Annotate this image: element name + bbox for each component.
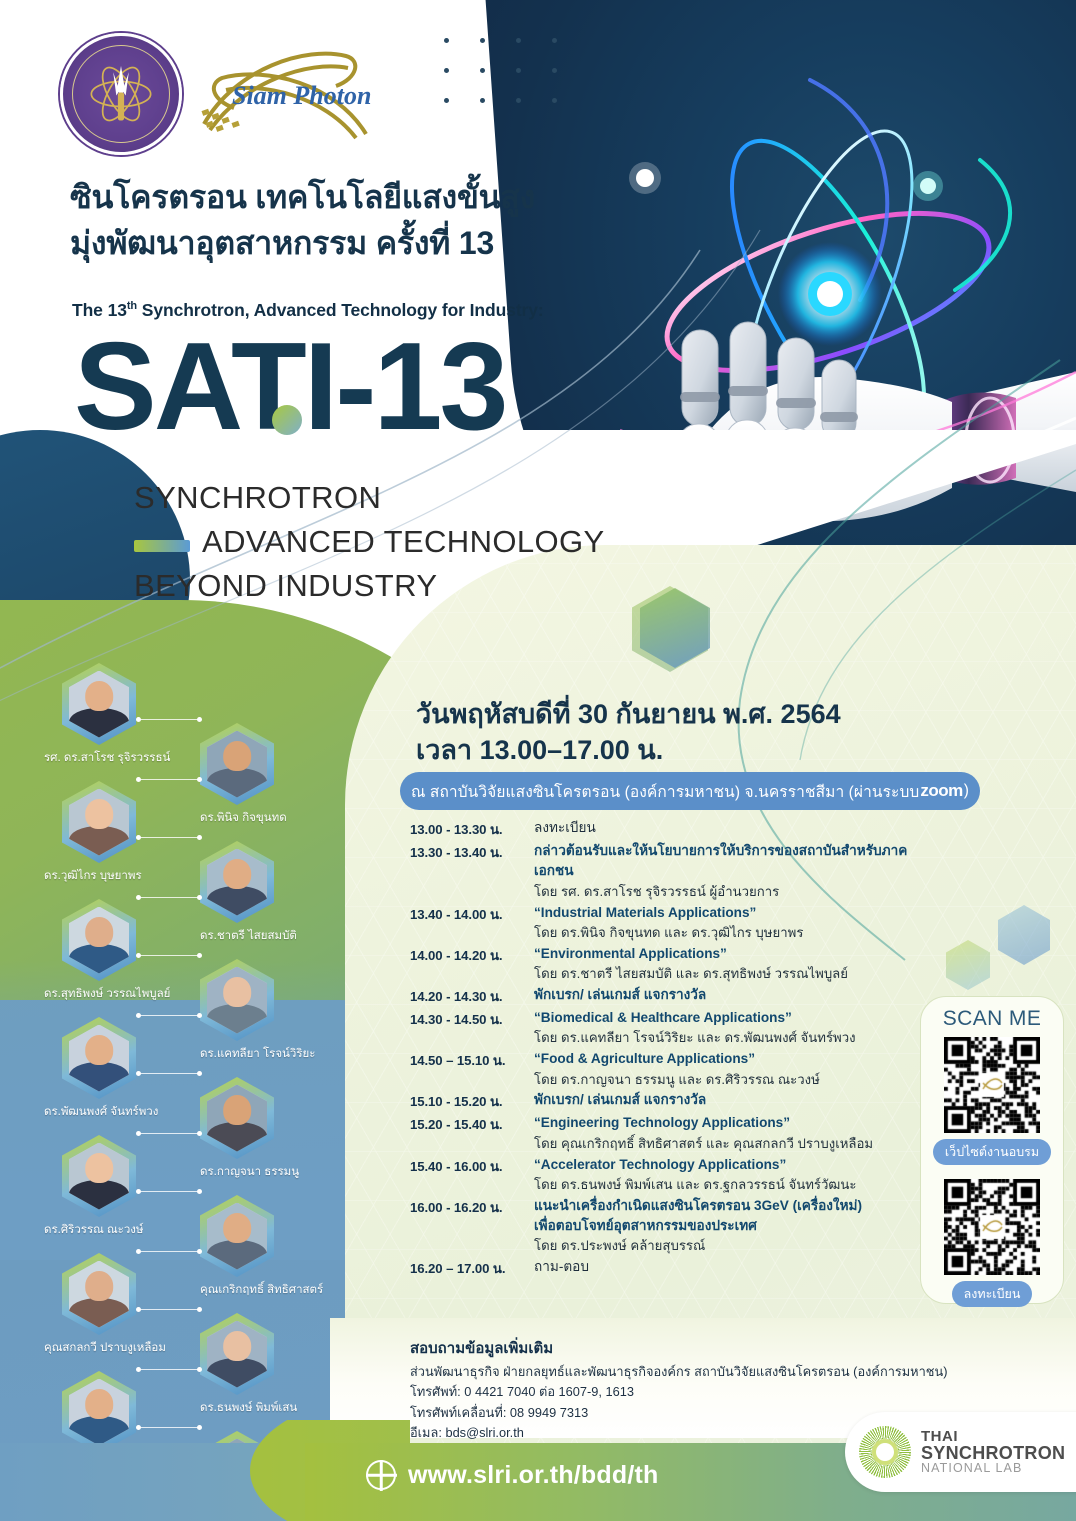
- event-tagline: SYNCHROTRON ADVANCED TECHNOLOGY BEYOND I…: [134, 476, 734, 608]
- speaker-photo: [69, 1379, 129, 1446]
- siam-photon-wordmark: Siam Photon: [232, 81, 371, 110]
- logo-line-synchrotron: SYNCHROTRON: [921, 1444, 1065, 1462]
- title-english-post: Synchrotron, Advanced Technology for Ind…: [137, 300, 544, 320]
- speaker-photo-hexagon: [200, 959, 274, 1041]
- agenda-title: กล่าวต้อนรับและให้นโยบายการให้บริการของส…: [534, 841, 920, 882]
- speaker-connector: [138, 1073, 200, 1074]
- zoom-wordmark: zoom: [920, 781, 962, 801]
- agenda-title: “Engineering Technology Applications”: [534, 1113, 873, 1133]
- agenda-detail: “Environmental Applications”โดย ดร.ชาตรี…: [534, 944, 848, 984]
- tagline-line2: ADVANCED TECHNOLOGY: [202, 524, 605, 559]
- page-title-thai: ซินโครตรอน เทคโนโลยีแสงขั้นสูง มุ่งพัฒนา…: [70, 174, 590, 267]
- speaker-photo-hexagon: [62, 1017, 136, 1099]
- agenda-time: 14.00 - 14.20 น.: [410, 944, 534, 984]
- agenda-row: 16.00 - 16.20 น.แนะนำเครื่องกำเนิดแสงซิน…: [410, 1196, 920, 1257]
- agenda-row: 13.40 - 14.00 น.“Industrial Materials Ap…: [410, 903, 920, 943]
- agenda-time: 14.30 - 14.50 น.: [410, 1008, 534, 1048]
- speaker-connector: [138, 837, 200, 838]
- title-english-pre: The 13: [72, 300, 127, 320]
- speaker-connector: [138, 897, 200, 898]
- venue-suffix: ): [964, 782, 969, 800]
- speaker-name: คุณเกริกฤทธิ์ สิทธิศาสตร์: [200, 1281, 323, 1299]
- agenda-time: 13.00 - 13.30 น.: [410, 818, 534, 840]
- agenda-speaker: โดย ดร.พินิจ กิจขุนทด และ ดร.วุฒิไกร บุษ…: [534, 923, 803, 943]
- agenda-detail: แนะนำเครื่องกำเนิดแสงซินโครตรอน 3GeV (เค…: [534, 1196, 862, 1257]
- agenda-detail: “Engineering Technology Applications”โดย…: [534, 1113, 873, 1153]
- speaker-photo: [207, 731, 267, 798]
- agenda-time: 13.40 - 14.00 น.: [410, 903, 534, 943]
- globe-icon: [366, 1460, 396, 1490]
- agenda-detail: ถาม-ตอบ: [534, 1257, 589, 1279]
- speaker-connector: [138, 955, 200, 956]
- speaker-photo-hexagon: [62, 781, 136, 863]
- speaker-name: ดร.ชาตรี ไสยสมบัติ: [200, 927, 297, 945]
- sun-burst-icon: [859, 1426, 911, 1478]
- agenda-title: “Food & Agriculture Applications”: [534, 1049, 820, 1069]
- footer-website-link[interactable]: www.slri.or.th/bdd/th: [366, 1460, 659, 1490]
- siam-photon-logo: Siam Photon: [196, 38, 376, 148]
- agenda-title: ถาม-ตอบ: [534, 1257, 589, 1277]
- agenda-title-cont: เพื่อตอบโจทย์อุตสาหกรรมของประเทศ: [534, 1216, 862, 1236]
- agenda-time: 13.30 - 13.40 น.: [410, 841, 534, 902]
- agenda-title: “Environmental Applications”: [534, 944, 848, 964]
- speaker-photo: [69, 1261, 129, 1328]
- agenda-row: 14.50 – 15.10 น.“Food & Agriculture Appl…: [410, 1049, 920, 1089]
- speaker-gallery: รศ. ดร.สาโรช รุจิรวรรธน์ดร.พินิจ กิจขุนท…: [0, 655, 350, 1515]
- speaker-card: คุณเกริกฤทธิ์ สิทธิศาสตร์: [200, 1195, 274, 1277]
- speaker-connector: [138, 1133, 200, 1134]
- agenda-title: ลงทะเบียน: [534, 818, 596, 838]
- contact-organization: ส่วนพัฒนาธุรกิจ ฝ่ายกลยุทธ์และพัฒนาธุรกิ…: [410, 1362, 970, 1382]
- speaker-card: ดร.ฐกลวรรธน์ จันทร์วัฒนะ: [62, 1371, 136, 1453]
- agenda-speaker: โดย ดร.ชาตรี ไสยสมบัติ และ ดร.สุทธิพงษ์ …: [534, 964, 848, 984]
- speaker-connector: [138, 1427, 200, 1428]
- agenda-speaker: โดย ดร.ประพงษ์ คล้ายสุบรรณ์: [534, 1236, 862, 1256]
- logo-line-thai: THAI: [921, 1429, 1065, 1444]
- speaker-name: ดร.พินิจ กิจขุนทด: [200, 809, 287, 827]
- speaker-photo: [69, 1143, 129, 1210]
- agenda-title: พักเบรก/ เล่นเกมส์ แจกรางวัล: [534, 985, 706, 1005]
- speaker-connector: [138, 1251, 200, 1252]
- speaker-photo-hexagon: [62, 1253, 136, 1335]
- agenda-row: 15.20 - 15.40 น.“Engineering Technology …: [410, 1113, 920, 1153]
- speaker-name: ดร.พัฒนพงศ์ จันทร์พวง: [44, 1103, 158, 1121]
- agenda-title: พักเบรก/ เล่นเกมส์ แจกรางวัล: [534, 1090, 706, 1110]
- speaker-card: ดร.สุทธิพงษ์ วรรณไพบูลย์: [62, 899, 136, 981]
- agenda-title: “Accelerator Technology Applications”: [534, 1155, 856, 1175]
- agenda-list: 13.00 - 13.30 น.ลงทะเบียน13.30 - 13.40 น…: [410, 818, 920, 1280]
- agenda-detail: “Accelerator Technology Applications”โดย…: [534, 1155, 856, 1195]
- agenda-time: 16.00 - 16.20 น.: [410, 1196, 534, 1257]
- agenda-time: 16.20 – 17.00 น.: [410, 1257, 534, 1279]
- speaker-card: ดร.แคทลียา โรจน์วิริยะ: [200, 959, 274, 1041]
- agenda-title: “Industrial Materials Applications”: [534, 903, 803, 923]
- speaker-card: ดร.วุฒิไกร บุษยาพร: [62, 781, 136, 863]
- speaker-card: ดร.ชาตรี ไสยสมบัติ: [200, 841, 274, 923]
- speaker-photo: [69, 789, 129, 856]
- agenda-speaker: โดย คุณเกริกฤทธิ์ สิทธิศาสตร์ และ คุณสกล…: [534, 1134, 873, 1154]
- speaker-card: รศ. ดร.สาโรช รุจิรวรรธน์: [62, 663, 136, 745]
- agenda-row: 14.20 - 14.30 น.พักเบรก/ เล่นเกมส์ แจกรา…: [410, 985, 920, 1007]
- agenda-speaker: โดย ดร.กาญจนา ธรรมนู และ ดร.ศิริวรรณ ณะว…: [534, 1070, 820, 1090]
- agenda-row: 15.40 - 16.00 น.“Accelerator Technology …: [410, 1155, 920, 1195]
- speaker-card: ดร.กาญจนา ธรรมนู: [200, 1077, 274, 1159]
- logo-line-nationallab: NATIONAL LAB: [921, 1462, 1065, 1475]
- event-datetime: วันพฤหัสบดีที่ 30 กันยายน พ.ศ. 2564 เวลา…: [416, 697, 976, 768]
- scan-me-heading: SCAN ME: [943, 1007, 1041, 1031]
- title-thai-line1: ซินโครตรอน เทคโนโลยีแสงขั้นสูง: [70, 174, 590, 220]
- decorative-dot-grid: [444, 38, 564, 114]
- title-english-ordinal: th: [127, 300, 137, 312]
- ministry-seal-logo: [60, 33, 182, 155]
- event-acronym: SATI-13: [74, 325, 505, 449]
- speaker-connector: [138, 719, 200, 720]
- footer-website-text: www.slri.or.th/bdd/th: [408, 1461, 659, 1490]
- qr-code-website[interactable]: [944, 1037, 1040, 1133]
- agenda-time: 15.10 - 15.20 น.: [410, 1090, 534, 1112]
- speaker-photo-hexagon: [200, 1077, 274, 1159]
- agenda-time: 15.20 - 15.40 น.: [410, 1113, 534, 1153]
- agenda-detail: พักเบรก/ เล่นเกมส์ แจกรางวัล: [534, 985, 706, 1007]
- atom-icon: [82, 55, 160, 133]
- speaker-card: ดร.ธนพงษ์ พิมพ์เสน: [200, 1313, 274, 1395]
- agenda-row: 13.00 - 13.30 น.ลงทะเบียน: [410, 818, 920, 840]
- agenda-detail: ลงทะเบียน: [534, 818, 596, 840]
- speaker-name: คุณสกลกวี ปราบงูเหลือม: [44, 1339, 166, 1357]
- agenda-row: 13.30 - 13.40 น.กล่าวต้อนรับและให้นโยบาย…: [410, 841, 920, 902]
- event-date: วันพฤหัสบดีที่ 30 กันยายน พ.ศ. 2564: [416, 697, 976, 733]
- tagline-dash-accent: [134, 540, 190, 552]
- agenda-detail: “Food & Agriculture Applications”โดย ดร.…: [534, 1049, 820, 1089]
- speaker-photo: [69, 671, 129, 738]
- speaker-name: รศ. ดร.สาโรช รุจิรวรรธน์: [44, 749, 170, 767]
- agenda-time: 14.50 – 15.10 น.: [410, 1049, 534, 1089]
- agenda-time: 14.20 - 14.30 น.: [410, 985, 534, 1007]
- title-thai-line2: มุ่งพัฒนาอุตสาหกรรม ครั้งที่ 13: [70, 220, 590, 266]
- agenda-detail: พักเบรก/ เล่นเกมส์ แจกรางวัล: [534, 1090, 706, 1112]
- event-venue-banner: ณ สถาบันวิจัยแสงซินโครตรอน (องค์การมหาชน…: [400, 772, 980, 810]
- speaker-photo-hexagon: [200, 841, 274, 923]
- agenda-title: “Biomedical & Healthcare Applications”: [534, 1008, 856, 1028]
- speaker-photo-hexagon: [200, 1313, 274, 1395]
- agenda-title: แนะนำเครื่องกำเนิดแสงซินโครตรอน 3GeV (เค…: [534, 1196, 862, 1216]
- event-acronym-text: SATI-13: [74, 318, 505, 456]
- agenda-detail: กล่าวต้อนรับและให้นโยบายการให้บริการของส…: [534, 841, 920, 902]
- speaker-connector: [138, 1309, 200, 1310]
- contact-phone: โทรศัพท์: 0 4421 7040 ต่อ 1607-9, 1613: [410, 1382, 970, 1402]
- thai-synchrotron-logo: THAI SYNCHROTRON NATIONAL LAB: [845, 1412, 1076, 1492]
- speaker-name: ดร.แคทลียา โรจน์วิริยะ: [200, 1045, 315, 1063]
- tagline-line3: BEYOND INDUSTRY: [134, 564, 734, 608]
- agenda-time: 15.40 - 16.00 น.: [410, 1155, 534, 1195]
- event-time: เวลา 13.00–17.00 น.: [416, 733, 976, 769]
- speaker-photo: [207, 1203, 267, 1270]
- contact-heading: สอบถามข้อมูลเพิ่มเติม: [410, 1336, 970, 1360]
- speaker-photo-hexagon: [62, 899, 136, 981]
- agenda-detail: “Biomedical & Healthcare Applications”โด…: [534, 1008, 856, 1048]
- speaker-photo-hexagon: [200, 1195, 274, 1277]
- speaker-photo-hexagon: [62, 663, 136, 745]
- speaker-connector: [138, 1369, 200, 1370]
- speaker-connector: [138, 1191, 200, 1192]
- speaker-connector: [138, 779, 200, 780]
- qr-register-label[interactable]: ลงทะเบียน: [952, 1281, 1033, 1307]
- speaker-photo: [69, 1025, 129, 1092]
- speaker-name: ดร.สุทธิพงษ์ วรรณไพบูลย์: [44, 985, 170, 1003]
- agenda-speaker: โดย ดร.แคทลียา โรจน์วิริยะ และ ดร.พัฒนพง…: [534, 1028, 856, 1048]
- agenda-speaker: โดย ดร.ธนพงษ์ พิมพ์เสน และ ดร.ฐกลวรรธน์ …: [534, 1175, 856, 1195]
- agenda-speaker: โดย รศ. ดร.สาโรช รุจิรวรรธน์ ผู้อำนวยการ: [534, 882, 920, 902]
- speaker-photo: [207, 1085, 267, 1152]
- speaker-photo: [207, 967, 267, 1034]
- speaker-photo-hexagon: [200, 723, 274, 805]
- speaker-name: ดร.ธนพงษ์ พิมพ์เสน: [200, 1399, 297, 1417]
- agenda-row: 16.20 – 17.00 น.ถาม-ตอบ: [410, 1257, 920, 1279]
- speaker-photo: [69, 907, 129, 974]
- speaker-photo: [207, 1321, 267, 1388]
- poster-root: Siam Photon ซินโครตรอน เทคโนโลยีแสงขั้นส…: [0, 0, 1076, 1521]
- agenda-row: 14.30 - 14.50 น.“Biomedical & Healthcare…: [410, 1008, 920, 1048]
- agenda-row: 14.00 - 14.20 น.“Environmental Applicati…: [410, 944, 920, 984]
- agenda-detail: “Industrial Materials Applications”โดย ด…: [534, 903, 803, 943]
- speaker-name: ดร.ศิริวรรณ ณะวงษ์: [44, 1221, 144, 1239]
- agenda-row: 15.10 - 15.20 น.พักเบรก/ เล่นเกมส์ แจกรา…: [410, 1090, 920, 1112]
- acronym-dot-accent: [272, 405, 302, 435]
- speaker-photo-hexagon: [62, 1371, 136, 1453]
- speaker-name: ดร.วุฒิไกร บุษยาพร: [44, 867, 142, 885]
- speaker-photo-hexagon: [62, 1135, 136, 1217]
- speaker-card: คุณสกลกวี ปราบงูเหลือม: [62, 1253, 136, 1335]
- speaker-card: ดร.พัฒนพงศ์ จันทร์พวง: [62, 1017, 136, 1099]
- qr-website-label[interactable]: เว็ปไซต์งานอบรม: [933, 1139, 1051, 1165]
- speaker-photo: [207, 849, 267, 916]
- speaker-card: ดร.พินิจ กิจขุนทด: [200, 723, 274, 805]
- qr-code-register[interactable]: [944, 1179, 1040, 1275]
- speaker-name: ดร.กาญจนา ธรรมนู: [200, 1163, 299, 1181]
- scan-me-panel: SCAN ME เว็ปไซต์งานอบรม ลงทะเบียน: [920, 996, 1064, 1304]
- venue-prefix: ณ สถาบันวิจัยแสงซินโครตรอน (องค์การมหาชน…: [411, 779, 919, 804]
- tagline-line1: SYNCHROTRON: [134, 476, 734, 520]
- speaker-connector: [138, 1015, 200, 1016]
- speaker-card: ดร.ศิริวรรณ ณะวงษ์: [62, 1135, 136, 1217]
